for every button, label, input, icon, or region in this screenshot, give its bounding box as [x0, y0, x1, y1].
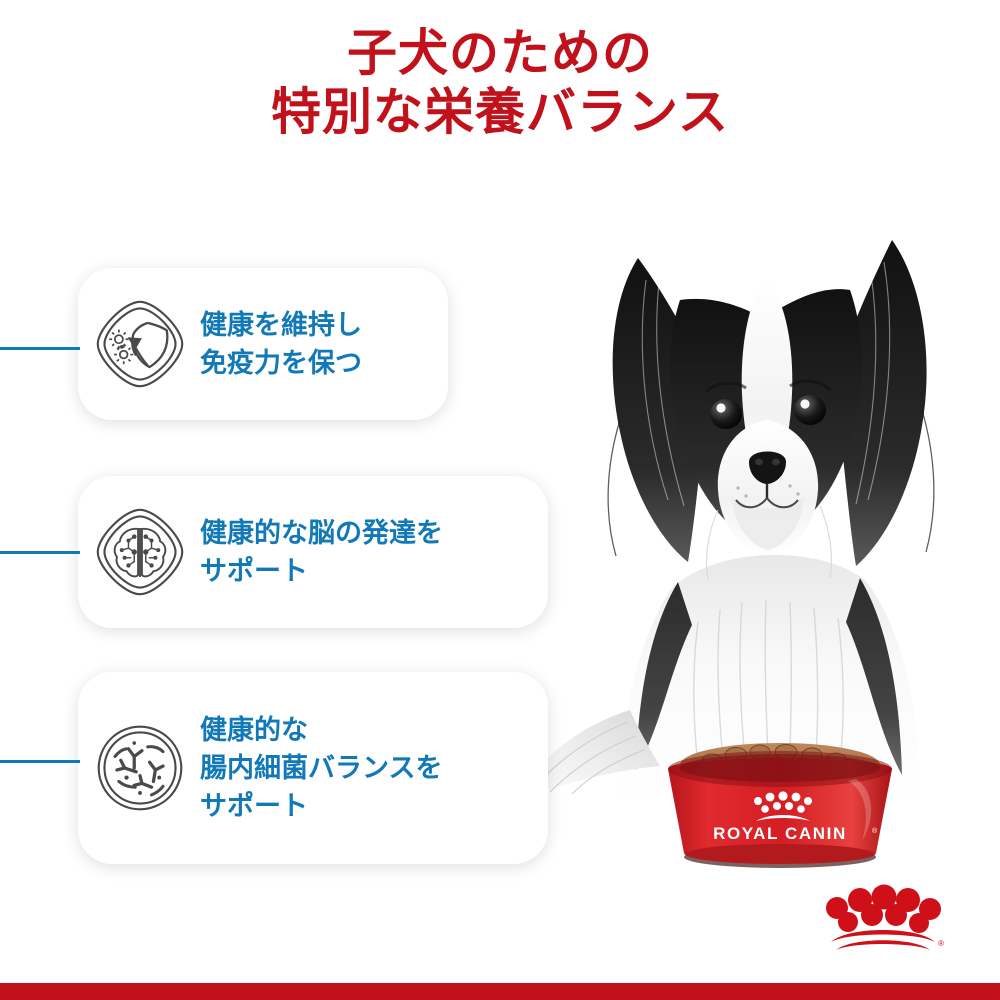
benefit-text-immunity: 健康を維持し 免疫力を保つ — [200, 306, 362, 383]
benefit-line: サポート — [200, 552, 443, 590]
benefit-card-immunity[interactable]: 健康を維持し 免疫力を保つ — [78, 268, 448, 420]
logo-trademark: ® — [938, 939, 944, 948]
benefit-line: 免疫力を保つ — [200, 344, 362, 382]
promotional-banner: 子犬のための 特別な栄養バランス — [0, 0, 1000, 1000]
benefit-line: 腸内細菌バランスを — [200, 749, 442, 787]
connector-line-3 — [0, 760, 80, 763]
connector-line-1 — [0, 347, 80, 350]
dog-head — [670, 278, 862, 580]
benefit-text-brain: 健康的な脳の発達を サポート — [200, 514, 443, 591]
benefit-line: 健康を維持し — [200, 306, 362, 344]
benefit-card-brain[interactable]: 健康的な脳の発達を サポート — [78, 476, 548, 628]
benefit-line: 健康的な脳の発達を — [200, 514, 443, 552]
connector-line-2 — [0, 551, 80, 554]
benefit-line: サポート — [200, 787, 442, 825]
royal-canin-crown-logo: ® — [818, 884, 948, 952]
immunity-shield-icon — [92, 296, 188, 392]
benefit-text-gut: 健康的な 腸内細菌バランスを サポート — [200, 711, 442, 826]
bowl-brand-text: ROYAL CANIN — [713, 824, 847, 843]
headline-line-1: 子犬のための — [0, 24, 1000, 83]
bowl-trademark: ® — [872, 827, 878, 835]
brain-development-icon — [92, 504, 188, 600]
bottom-red-bar — [0, 983, 1000, 1000]
benefit-line: 健康的な — [200, 711, 442, 749]
papillon-puppy-photo — [520, 170, 1000, 810]
benefit-card-gut[interactable]: 健康的な 腸内細菌バランスを サポート — [78, 672, 548, 864]
product-bowl: ROYAL CANIN ® — [640, 735, 920, 880]
gut-microbiome-icon — [92, 720, 188, 816]
headline-line-2: 特別な栄養バランス — [0, 83, 1000, 142]
page-title: 子犬のための 特別な栄養バランス — [0, 24, 1000, 142]
